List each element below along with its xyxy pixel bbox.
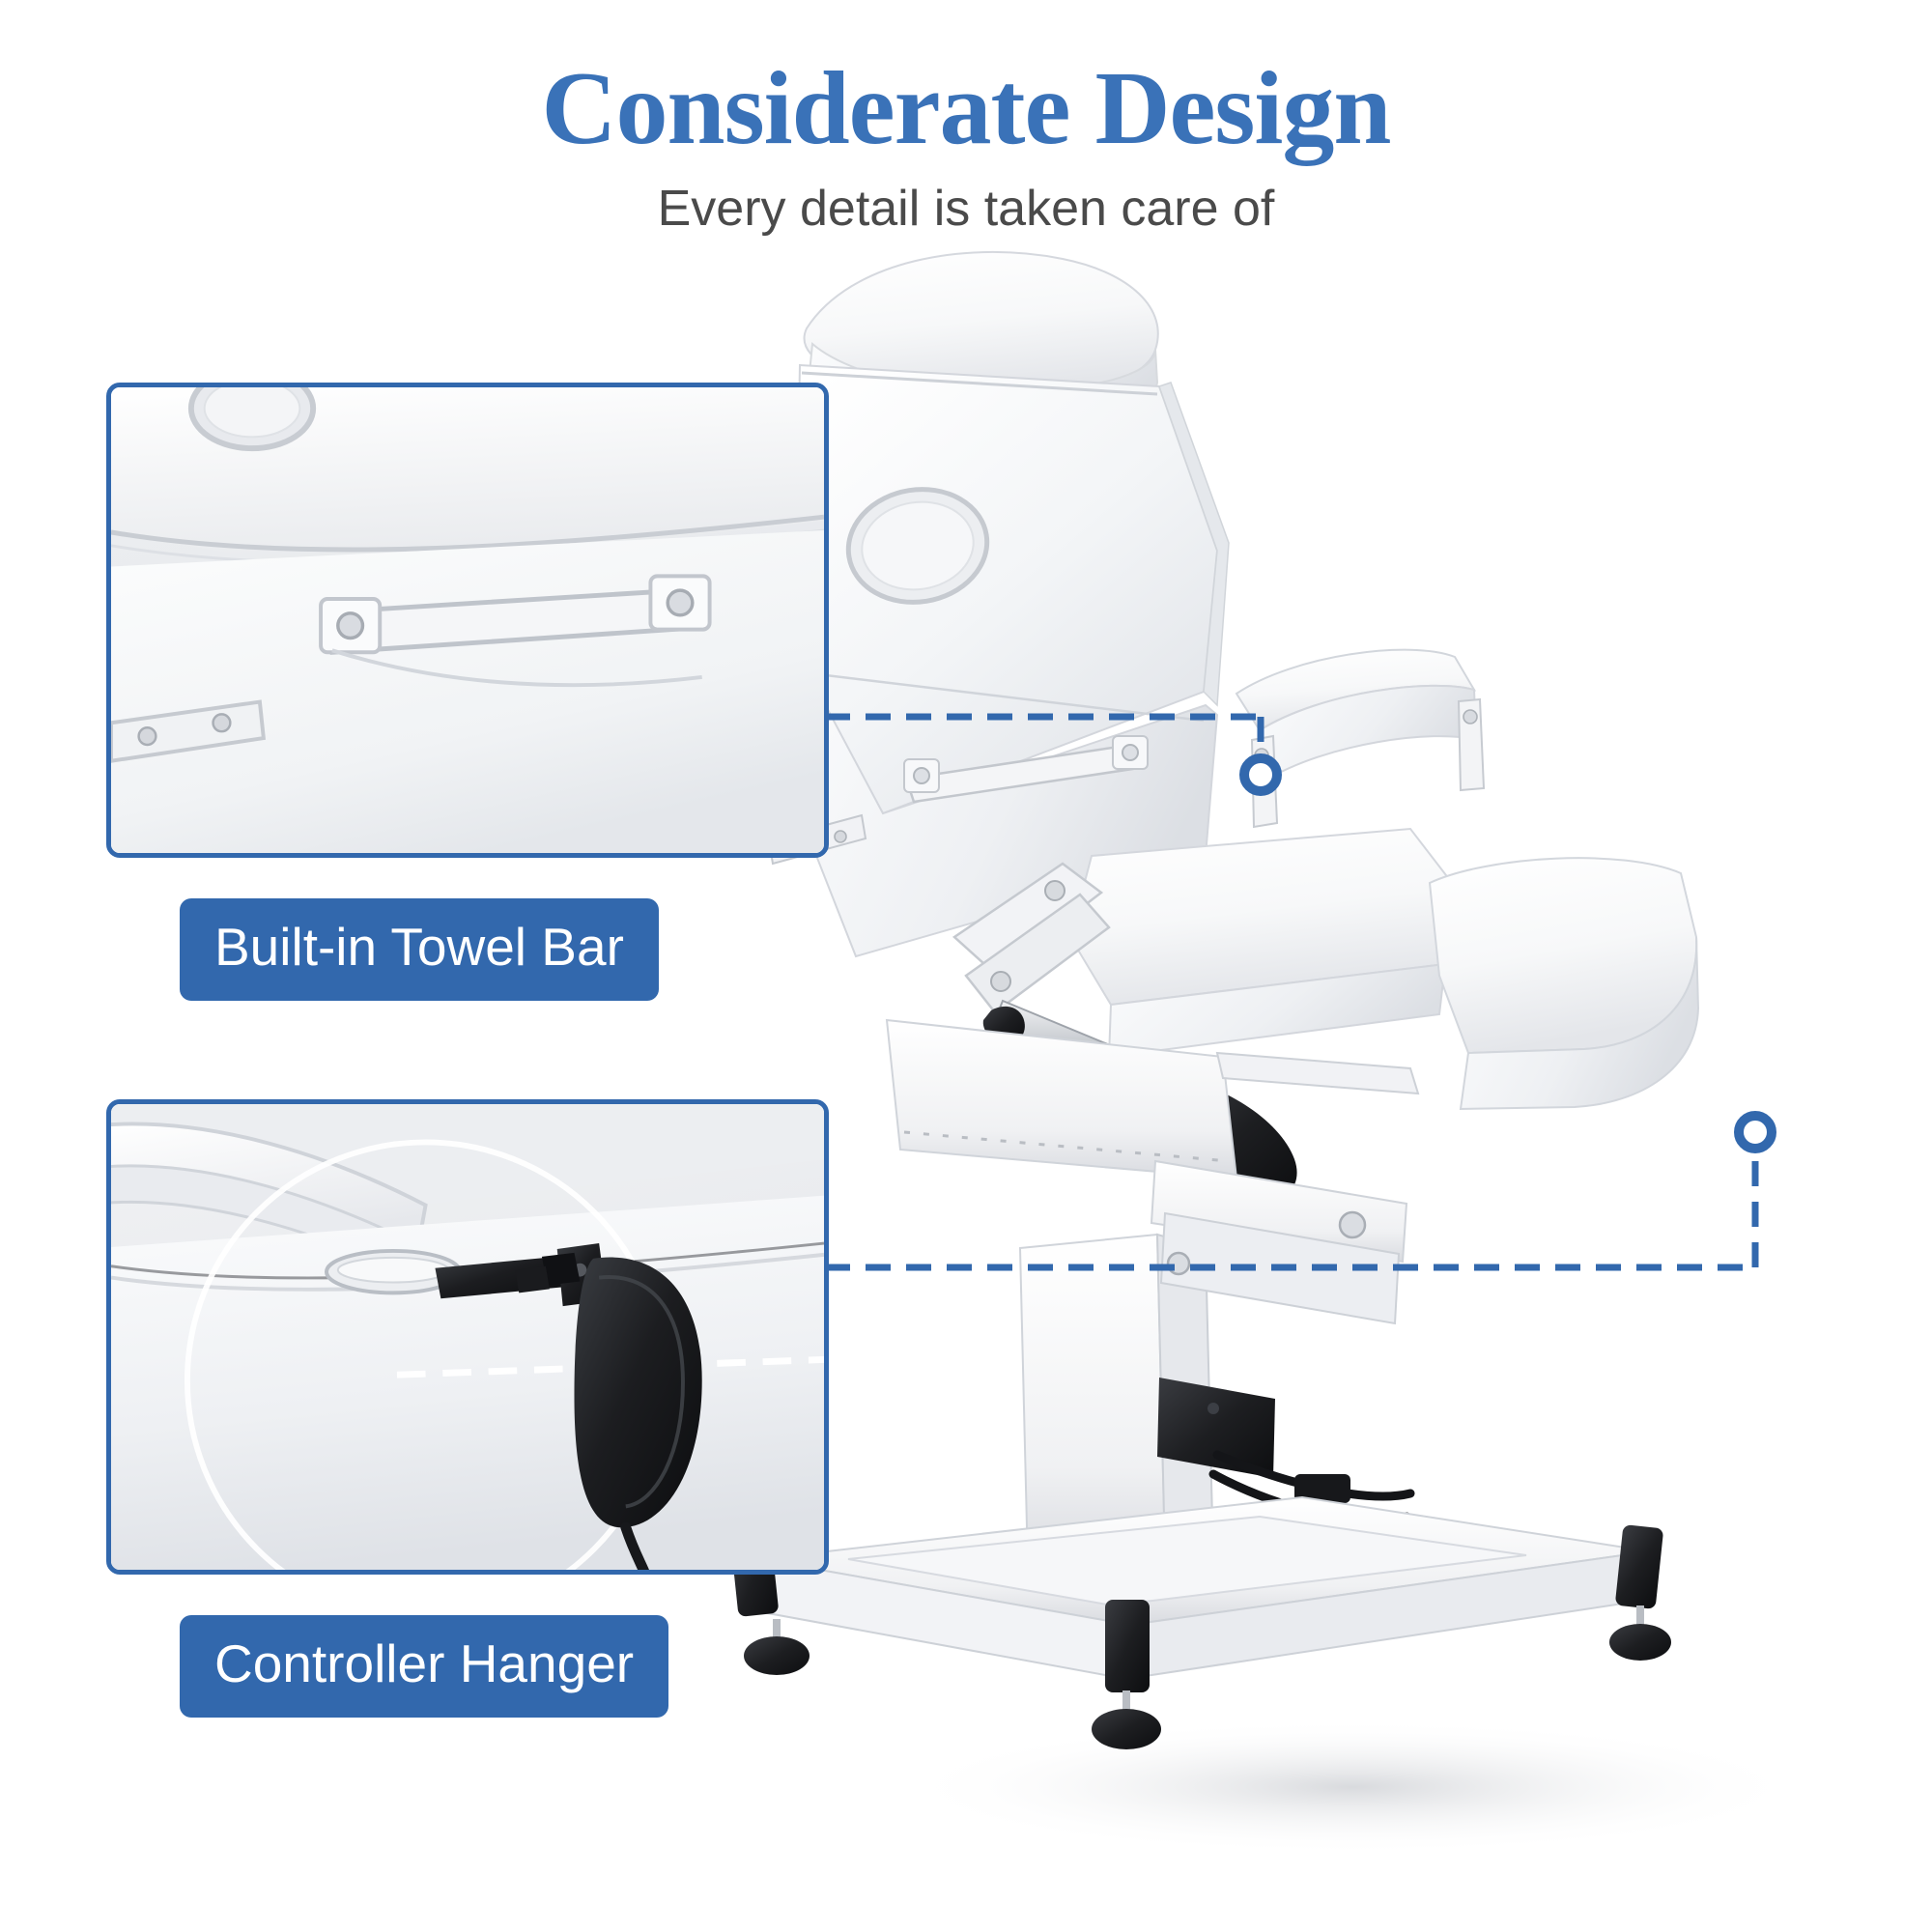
page-title: Considerate Design [0, 56, 1932, 162]
corner-cap [1615, 1524, 1664, 1609]
leg-rest [1430, 858, 1698, 1109]
detail-photo-towel-bar [111, 387, 824, 856]
leveling-foot [744, 1619, 810, 1675]
corner-cap [1105, 1600, 1150, 1692]
feature-badge-controller-hanger[interactable]: Controller Hanger [180, 1615, 668, 1718]
floor-shadow [898, 1719, 1806, 1855]
detail-panel-towel-bar: Close-up of the built-in towel bar mount… [106, 383, 829, 858]
seat-cushion [1070, 829, 1449, 1057]
detail-photo-controller-hanger [111, 1104, 824, 1573]
detail-panel-controller-hanger: Close-up of the hand controller resting … [106, 1099, 829, 1575]
leveling-foot [1609, 1605, 1671, 1661]
armrest [1236, 650, 1484, 827]
product-photo-spa-chair [676, 203, 1932, 1932]
feature-badge-towel-bar[interactable]: Built-in Towel Bar [180, 898, 659, 1001]
leveling-foot [1092, 1690, 1161, 1749]
infographic-canvas: Considerate Design Every detail is taken… [0, 0, 1932, 1932]
base-frame [730, 1497, 1671, 1749]
